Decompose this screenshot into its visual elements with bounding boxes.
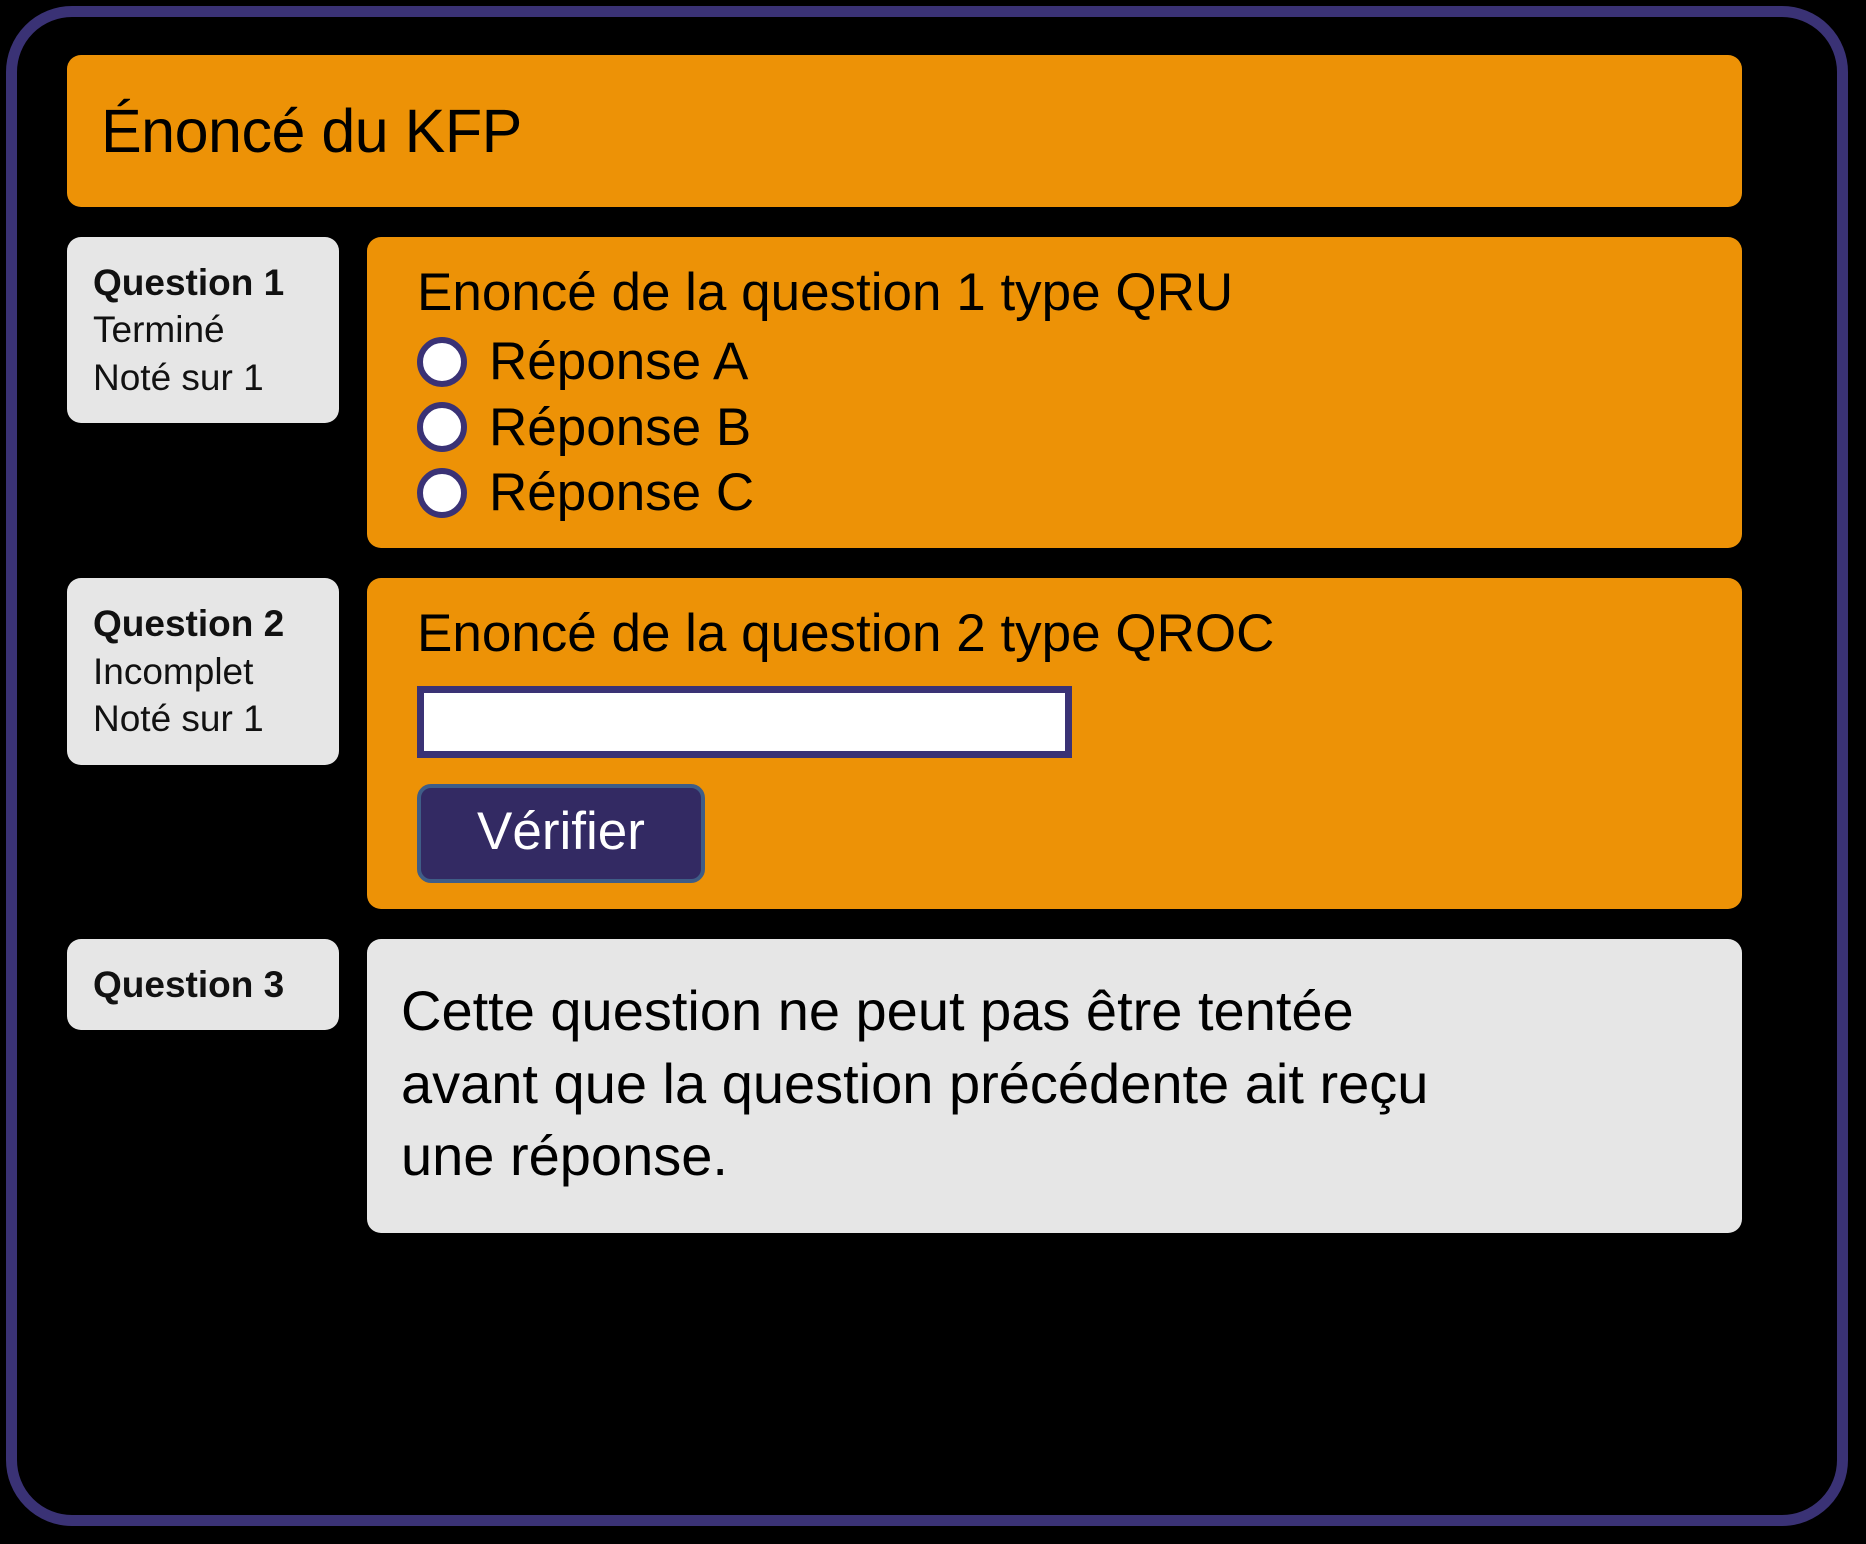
question-1-grade: Noté sur 1 <box>93 354 321 401</box>
question-row-3: Question 3 Cette question ne peut pas êt… <box>67 939 1742 1233</box>
question-1-status-panel: Question 1 Terminé Noté sur 1 <box>67 237 339 423</box>
question-1-option-c-label: Réponse C <box>489 463 754 522</box>
question-3-body: Cette question ne peut pas être tentée a… <box>367 939 1742 1233</box>
verify-button[interactable]: Vérifier <box>417 784 705 883</box>
question-1-option-c[interactable]: Réponse C <box>417 463 1712 522</box>
question-2-label: Question 2 <box>93 600 321 647</box>
question-1-option-b-label: Réponse B <box>489 398 751 457</box>
question-2-body: Enoncé de la question 2 type QROC Vérifi… <box>367 578 1742 908</box>
radio-button-icon[interactable] <box>417 402 467 452</box>
page-title: Énoncé du KFP <box>101 101 522 162</box>
question-2-status-panel: Question 2 Incomplet Noté sur 1 <box>67 578 339 764</box>
question-3-locked-message: Cette question ne peut pas être tentée a… <box>401 975 1491 1193</box>
question-1-option-a[interactable]: Réponse A <box>417 332 1712 391</box>
question-row-2: Question 2 Incomplet Noté sur 1 Enoncé d… <box>67 578 1742 908</box>
question-1-stem: Enoncé de la question 1 type QRU <box>417 263 1712 322</box>
question-1-status: Terminé <box>93 306 321 353</box>
radio-button-icon[interactable] <box>417 337 467 387</box>
question-3-status-panel: Question 3 <box>67 939 339 1030</box>
question-row-1: Question 1 Terminé Noté sur 1 Enoncé de … <box>67 237 1742 548</box>
question-3-label: Question 3 <box>93 961 321 1008</box>
question-1-option-b[interactable]: Réponse B <box>417 398 1712 457</box>
radio-button-icon[interactable] <box>417 468 467 518</box>
question-2-answer-input[interactable] <box>417 686 1072 758</box>
kfp-header-bar: Énoncé du KFP <box>67 55 1742 207</box>
question-2-grade: Noté sur 1 <box>93 695 321 742</box>
kfp-content-area: Énoncé du KFP Question 1 Terminé Noté su… <box>17 17 1837 1515</box>
question-1-option-a-label: Réponse A <box>489 332 748 391</box>
question-2-stem: Enoncé de la question 2 type QROC <box>417 604 1712 663</box>
question-1-label: Question 1 <box>93 259 321 306</box>
question-1-body: Enoncé de la question 1 type QRU Réponse… <box>367 237 1742 548</box>
question-2-status: Incomplet <box>93 648 321 695</box>
kfp-outer-frame: Énoncé du KFP Question 1 Terminé Noté su… <box>6 6 1848 1526</box>
